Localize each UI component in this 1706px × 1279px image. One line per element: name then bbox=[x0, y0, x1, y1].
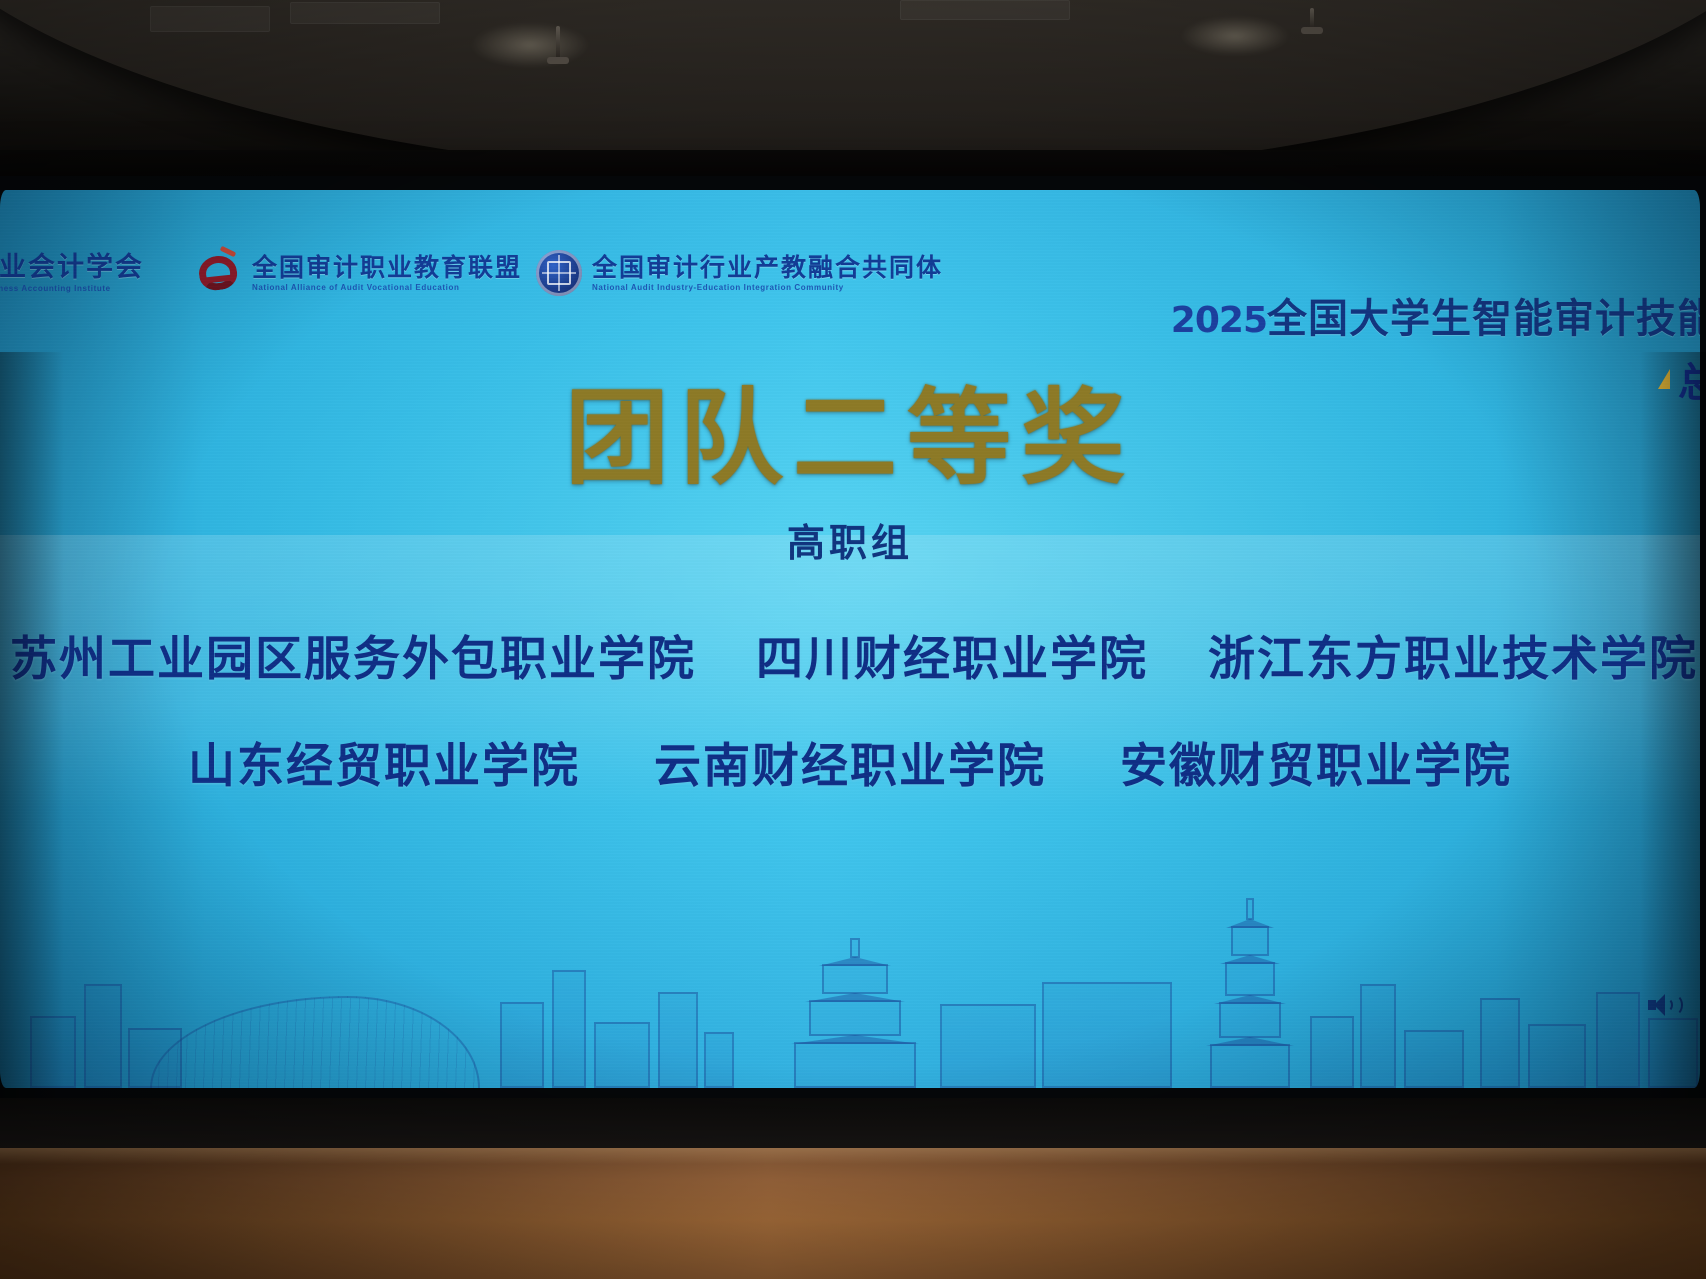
winner-school: 四川财经职业学院 bbox=[756, 620, 1148, 689]
building bbox=[1596, 992, 1640, 1088]
ceiling-fixture bbox=[1310, 8, 1314, 30]
logo-business-accounting-institute: 商业会计学会 ...Business Accounting Institute bbox=[0, 254, 144, 293]
winner-school: 山东经贸职业学院 bbox=[188, 727, 580, 796]
winner-list: 苏州工业园区服务外包职业学院 四川财经职业学院 浙江东方职业技术学院 山东经贸职… bbox=[0, 620, 1700, 834]
building bbox=[658, 992, 698, 1088]
building bbox=[594, 1022, 650, 1088]
screenshot-root: 商业会计学会 ...Business Accounting Institute … bbox=[0, 0, 1706, 1279]
ceiling-panel bbox=[150, 6, 270, 32]
winner-row: 苏州工业园区服务外包职业学院 四川财经职业学院 浙江东方职业技术学院 bbox=[4, 620, 1700, 689]
building bbox=[552, 970, 586, 1088]
globe-emblem-icon bbox=[536, 250, 582, 296]
building bbox=[704, 1032, 734, 1088]
ceiling bbox=[0, 0, 1706, 200]
logo-label-en: National Audit Industry-Education Integr… bbox=[592, 284, 943, 292]
building bbox=[30, 1016, 76, 1088]
building bbox=[1528, 1024, 1586, 1088]
building bbox=[84, 984, 122, 1088]
event-year: 2025 bbox=[1171, 300, 1267, 341]
award-title: 团队二等奖 bbox=[0, 386, 1700, 490]
building-pagoda bbox=[790, 938, 920, 1088]
winner-school: 苏州工业园区服务外包职业学院 bbox=[10, 620, 696, 689]
stage-floor bbox=[0, 1148, 1706, 1279]
logo-label-en: National Alliance of Audit Vocational Ed… bbox=[252, 284, 522, 292]
event-name: 全国大学生智能审计技能 bbox=[1267, 286, 1700, 344]
building bbox=[1360, 984, 1396, 1088]
ceiling-panel bbox=[290, 2, 440, 24]
slide-header: 商业会计学会 ...Business Accounting Institute … bbox=[0, 242, 1700, 332]
building-tower bbox=[1205, 898, 1295, 1088]
logo-label-cn: 商业会计学会 bbox=[0, 254, 144, 281]
ceiling-light bbox=[470, 22, 590, 68]
building bbox=[1480, 998, 1520, 1088]
building bbox=[128, 1028, 182, 1088]
winner-school: 云南财经职业学院 bbox=[654, 727, 1046, 796]
logo-label-en: ...Business Accounting Institute bbox=[0, 285, 144, 293]
building-opera-house bbox=[150, 996, 480, 1088]
logo-audit-vocational-education-alliance: 全国审计职业教育联盟 National Alliance of Audit Vo… bbox=[196, 250, 522, 296]
building bbox=[1648, 1018, 1698, 1088]
ceiling-panel bbox=[900, 0, 1070, 20]
building bbox=[1042, 982, 1172, 1088]
building bbox=[1310, 1016, 1354, 1088]
ceiling-fixture bbox=[556, 26, 560, 60]
logo-audit-industry-education-community: 全国审计行业产教融合共同体 National Audit Industry-Ed… bbox=[536, 250, 943, 296]
award-group-label: 高职组 bbox=[0, 512, 1700, 567]
letter-a-emblem-icon bbox=[196, 250, 242, 296]
building bbox=[500, 1002, 544, 1088]
led-wall-screen: 商业会计学会 ...Business Accounting Institute … bbox=[0, 190, 1700, 1088]
ceiling-light bbox=[1180, 16, 1290, 56]
winner-school: 安徽财贸职业学院 bbox=[1120, 727, 1512, 796]
winner-row: 山东经贸职业学院 云南财经职业学院 安徽财贸职业学院 bbox=[0, 727, 1700, 796]
logo-label-cn: 全国审计职业教育联盟 bbox=[252, 255, 522, 280]
building bbox=[940, 1004, 1036, 1088]
floor-highlight bbox=[0, 1148, 1706, 1164]
speaker-volume-icon bbox=[1648, 994, 1674, 1016]
skyline-decoration bbox=[0, 868, 1700, 1088]
led-wall-frame: 商业会计学会 ...Business Accounting Institute … bbox=[0, 176, 1706, 1106]
logo-label-cn: 全国审计行业产教融合共同体 bbox=[592, 255, 943, 280]
building bbox=[1404, 1030, 1464, 1088]
winner-school: 浙江东方职业技术学院 bbox=[1208, 620, 1698, 689]
